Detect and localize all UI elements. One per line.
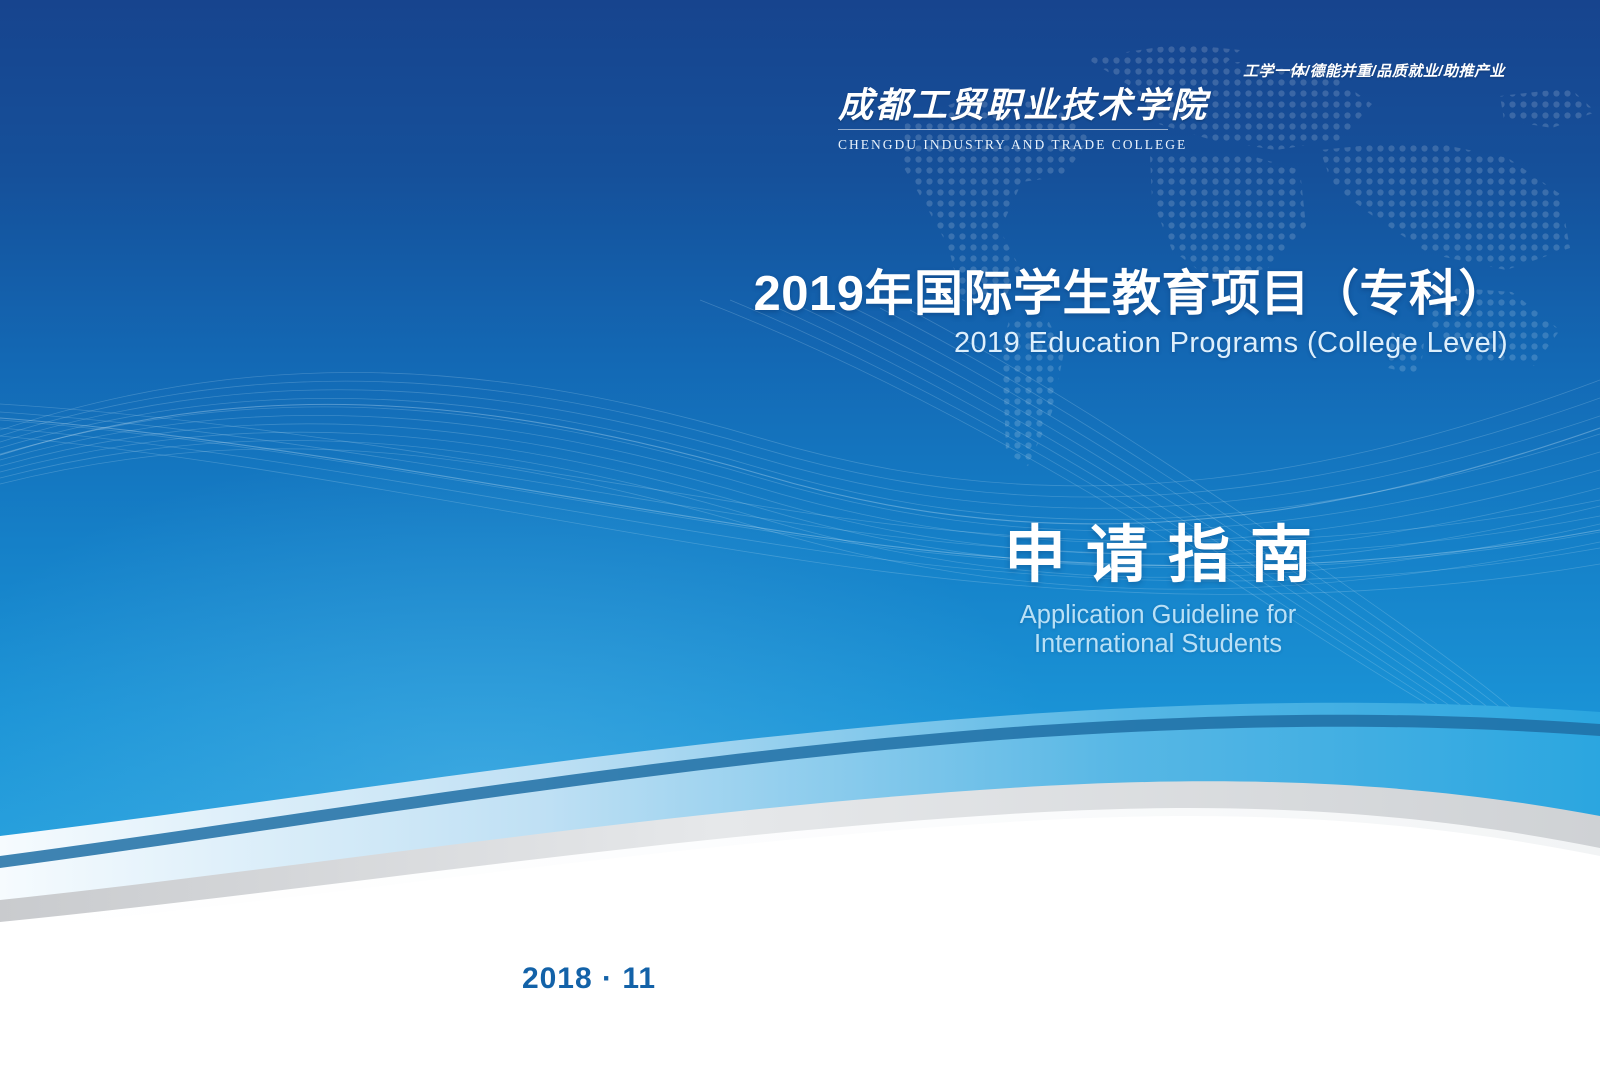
college-name-en: CHENGDU INDUSTRY AND TRADE COLLEGE	[838, 137, 1168, 153]
college-logo: 成都工贸职业技术学院 CHENGDU INDUSTRY AND TRADE CO…	[838, 88, 1168, 153]
publication-date-wrap: 2018 · 11	[0, 962, 1600, 996]
guide-heading-en-line2: International Students	[984, 630, 1332, 659]
program-title-cn: 2019年国际学生教育项目（专科）	[753, 268, 1508, 321]
publication-date: 2018 · 11	[522, 962, 656, 996]
program-title: 2019年国际学生教育项目（专科） 2019 Education Program…	[753, 268, 1508, 360]
swoosh-bands	[0, 0, 1600, 1085]
college-name-cn: 成都工贸职业技术学院	[838, 88, 1168, 125]
logo-divider	[838, 129, 1168, 130]
guide-heading-cn: 申请指南	[984, 520, 1332, 591]
program-title-en: 2019 Education Programs (College Level)	[753, 327, 1508, 360]
brochure-cover: 成都工贸职业技术学院 CHENGDU INDUSTRY AND TRADE CO…	[0, 0, 1600, 1085]
tagline: 工学一体/德能并重/品质就业/助推产业	[1243, 60, 1505, 81]
guide-heading-en-line1: Application Guideline for	[984, 601, 1332, 630]
guide-heading: 申请指南 Application Guideline for Internati…	[984, 520, 1332, 658]
